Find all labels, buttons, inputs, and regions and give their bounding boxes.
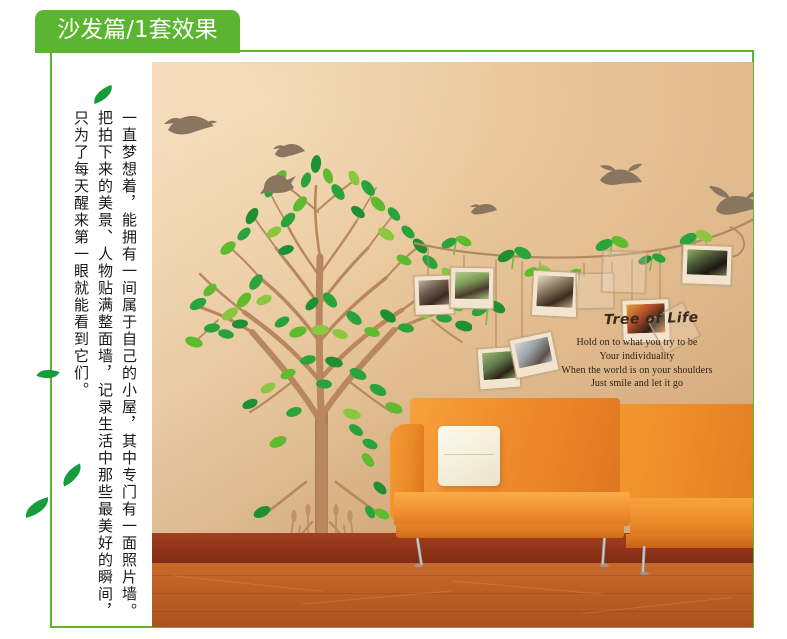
wall-text-title: Tree of Life [603, 310, 698, 328]
sofa-leg [641, 546, 645, 574]
sofa-foot [414, 564, 423, 567]
vertical-copy-block: 一直梦想着，能拥有一间属于自己的小屋，其中专门有一面照片墙。 把拍下来的美景、人… [22, 80, 142, 625]
sofa-base-left [396, 524, 624, 538]
copy-line-3: 只为了每天醒来第一眼就能看到它们。 [73, 110, 88, 399]
sofa-leg [601, 538, 606, 566]
copy-line-2: 把拍下来的美景、人物贴满整面墙，记录生活中那些最美好的瞬间， [97, 110, 112, 620]
sofa-leg [416, 538, 423, 566]
wall-text-poem-line: Just smile and let it go [542, 377, 732, 391]
photo-frame-image [607, 255, 642, 283]
bird-icon [162, 110, 218, 144]
sofa-foot [600, 564, 609, 567]
bird-icon [260, 170, 300, 196]
section-banner: 沙发篇/1套效果 [35, 10, 240, 51]
sofa [390, 398, 753, 578]
photo-frame-image [418, 279, 449, 305]
photo-frame[interactable] [413, 274, 454, 315]
sofa-seat-right [630, 498, 753, 538]
photo-frame-image [455, 272, 489, 300]
sofa-seat-left [394, 492, 630, 526]
room-photo: Tree of Life Hold on to what you try to … [152, 62, 753, 627]
photo-frame[interactable] [450, 267, 495, 310]
photo-frame-image [687, 249, 728, 275]
banner-frame-notch [35, 48, 240, 53]
wall-text-poem-line: Your individuality [542, 350, 732, 364]
sofa-foot [640, 572, 649, 575]
throw-pillow [438, 426, 500, 486]
wall-text-poem-line: Hold on to what you try to be [542, 336, 732, 350]
wall-text-decal: Tree of Life Hold on to what you try to … [542, 310, 732, 391]
wall-text-poem-line: When the world is on your shoulders [542, 364, 732, 378]
photo-frame-image [536, 275, 574, 308]
section-banner-label: 沙发篇/1套效果 [57, 19, 217, 42]
bird-icon [592, 162, 646, 196]
copy-line-1: 一直梦想着，能拥有一间属于自己的小屋，其中专门有一面照片墙。 [121, 110, 136, 620]
sofa-backrest-right [620, 404, 753, 504]
photo-frame[interactable] [601, 250, 646, 294]
bird-icon [272, 140, 306, 162]
photo-frame[interactable] [681, 244, 732, 286]
